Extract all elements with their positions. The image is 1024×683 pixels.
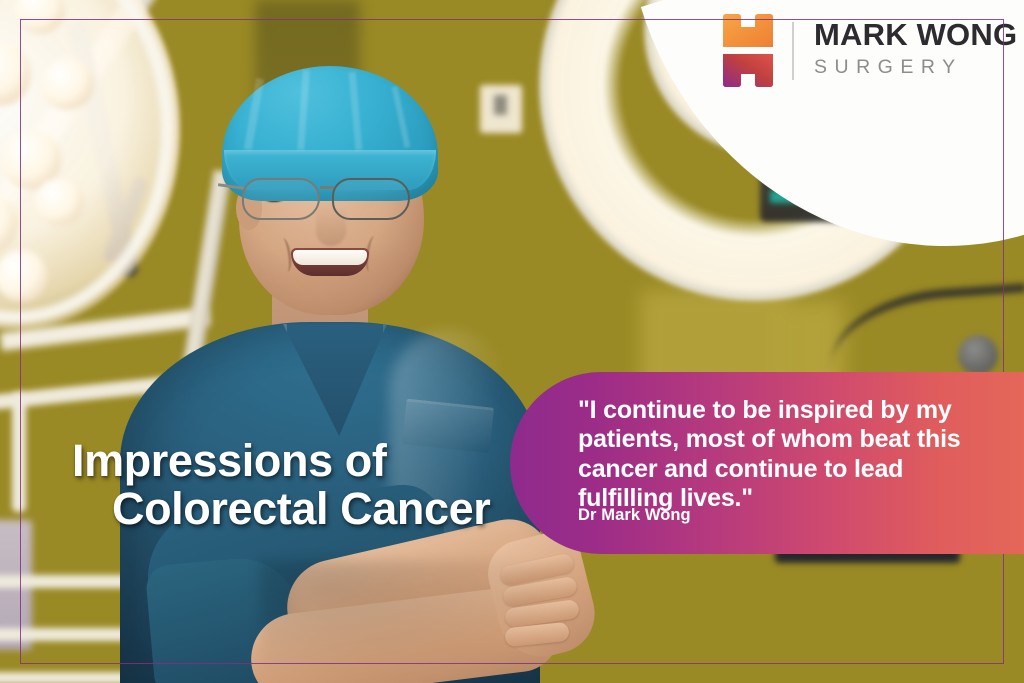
logo-wordmark: MARK WONG SURGERY bbox=[814, 19, 1017, 82]
logo-divider bbox=[792, 22, 794, 80]
mark-wong-monogram-icon bbox=[722, 14, 774, 88]
page-title-line-2: Colorectal Cancer bbox=[72, 485, 490, 533]
brand-subtitle: SURGERY bbox=[814, 53, 1017, 82]
quote-attribution: Dr Mark Wong bbox=[578, 506, 691, 525]
mouth bbox=[291, 248, 369, 276]
brand-name: MARK WONG bbox=[814, 19, 1017, 52]
eyeglass-lens-left bbox=[242, 178, 320, 220]
eyeglass-bridge bbox=[320, 186, 334, 189]
eyeglasses bbox=[236, 178, 432, 224]
arm-shadow bbox=[260, 560, 560, 680]
brand-logo[interactable]: MARK WONG SURGERY bbox=[722, 14, 1017, 88]
eyeglass-lens-right bbox=[332, 178, 410, 220]
banner-hero: "I continue to be inspired by my patient… bbox=[0, 0, 1024, 683]
page-title: Impressions of Colorectal Cancer bbox=[72, 437, 490, 533]
teeth bbox=[293, 250, 367, 265]
quote-panel: "I continue to be inspired by my patient… bbox=[510, 372, 1024, 554]
page-title-line-1: Impressions of bbox=[72, 435, 386, 486]
quote-text: "I continue to be inspired by my patient… bbox=[578, 396, 978, 513]
